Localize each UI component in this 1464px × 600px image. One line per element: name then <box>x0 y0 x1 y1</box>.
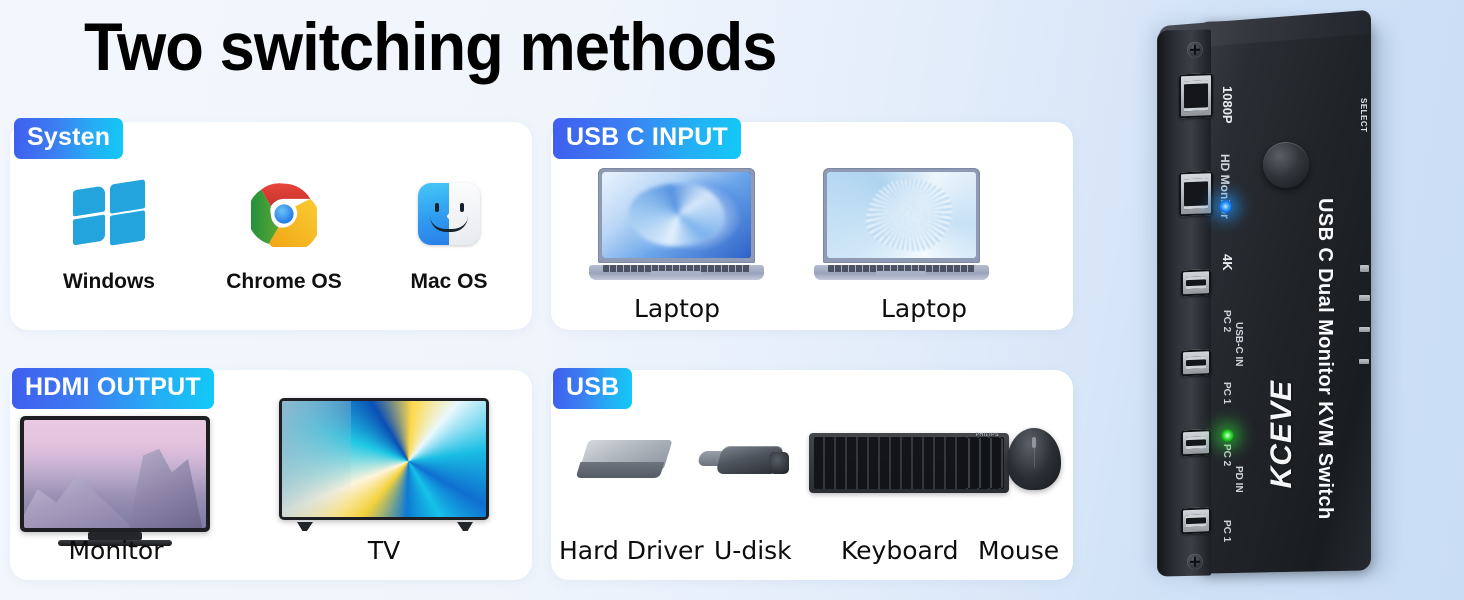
usb-item-hard-drive <box>569 428 679 498</box>
usb-item-udisk <box>691 428 795 498</box>
os-item-macos: Mac OS <box>374 174 524 294</box>
mouse-icon <box>1003 424 1065 494</box>
laptop-icon <box>589 168 764 280</box>
laptop-item-1 <box>589 168 764 280</box>
badge-usb: USB <box>553 368 632 409</box>
kvm-switch-device: 1080P HD Monitor 4K PC 2 USB-C IN PC 1 P… <box>1145 14 1393 578</box>
side-usb-port-1[interactable] <box>1358 326 1371 333</box>
screw-bottom-icon <box>1187 554 1203 570</box>
label-lower-pc2: PC 2 <box>1221 444 1231 466</box>
screw-top-icon <box>1187 42 1203 58</box>
laptop-item-2 <box>814 168 989 280</box>
blue-status-led <box>1219 200 1232 213</box>
usbc-port-2[interactable] <box>1181 507 1211 534</box>
os-label-macos: Mac OS <box>374 270 524 294</box>
tv-label: TV <box>294 536 474 565</box>
usb-flash-drive-icon <box>691 428 795 498</box>
laptop-label-2: Laptop <box>861 294 987 323</box>
laptop-label-1: Laptop <box>614 294 740 323</box>
label-upper-pc2: PC 2 <box>1221 310 1231 332</box>
keyboard-icon: PHILIPS <box>803 428 1015 498</box>
hdmi-port-1[interactable] <box>1179 73 1213 118</box>
select-label: SELECT <box>1359 98 1368 133</box>
label-pd-in: PD IN <box>1233 466 1243 493</box>
infographic-stage: Two switching methods Windows <box>0 0 1464 600</box>
badge-usbc: USB C INPUT <box>553 118 741 159</box>
hdmi-port-3[interactable] <box>1181 269 1211 296</box>
mouse-label: Mouse <box>978 536 1059 565</box>
keyboard-label: Keyboard <box>841 536 959 565</box>
finder-mac-icon <box>374 174 524 254</box>
hdmi-port-2[interactable] <box>1179 171 1213 216</box>
label-upper-pc1: PC 1 <box>1221 382 1231 404</box>
side-hdmi-port[interactable] <box>1359 264 1370 273</box>
device-port-edge <box>1157 29 1211 576</box>
hard-drive-icon <box>569 428 679 498</box>
label-1080p: 1080P <box>1221 86 1234 124</box>
page-title: Two switching methods <box>84 8 777 86</box>
tv-icon <box>279 398 489 520</box>
os-label-chrome: Chrome OS <box>209 270 359 294</box>
green-status-led <box>1221 429 1234 442</box>
usb-item-keyboard: PHILIPS <box>803 428 1015 498</box>
monitor-label: Monitor <box>26 536 206 565</box>
side-usb3-port[interactable] <box>1358 294 1371 302</box>
udisk-label: U-disk <box>714 536 792 565</box>
brand-logo: KCEVE <box>1265 380 1299 488</box>
hdmi-port-4[interactable] <box>1181 349 1211 376</box>
hard-drive-label: Hard Driver <box>559 536 704 565</box>
label-4k: 4K <box>1221 254 1234 271</box>
label-lower-pc1: PC 1 <box>1221 520 1231 542</box>
usb-item-mouse <box>1003 424 1065 494</box>
label-usbc-in: USB-C IN <box>1233 322 1243 366</box>
usb-device-row: PHILIPS <box>551 418 1073 523</box>
os-row: Windows <box>10 174 532 324</box>
os-item-windows: Windows <box>34 174 184 294</box>
chrome-logo-icon <box>209 174 359 254</box>
badge-hdmi: HDMI OUTPUT <box>12 368 214 409</box>
device-model-text: USB C Dual Monitor KVM Switch <box>1313 198 1336 520</box>
usbc-port-1[interactable] <box>1181 429 1211 456</box>
laptop-icon <box>814 168 989 280</box>
windows-logo-icon <box>34 174 184 254</box>
os-item-chrome: Chrome OS <box>209 174 359 294</box>
badge-system: Systen <box>14 118 123 159</box>
select-button-knob[interactable] <box>1263 142 1309 188</box>
side-usb-port-2[interactable] <box>1358 358 1370 365</box>
monitor-icon <box>20 416 210 532</box>
os-label-windows: Windows <box>34 270 184 294</box>
